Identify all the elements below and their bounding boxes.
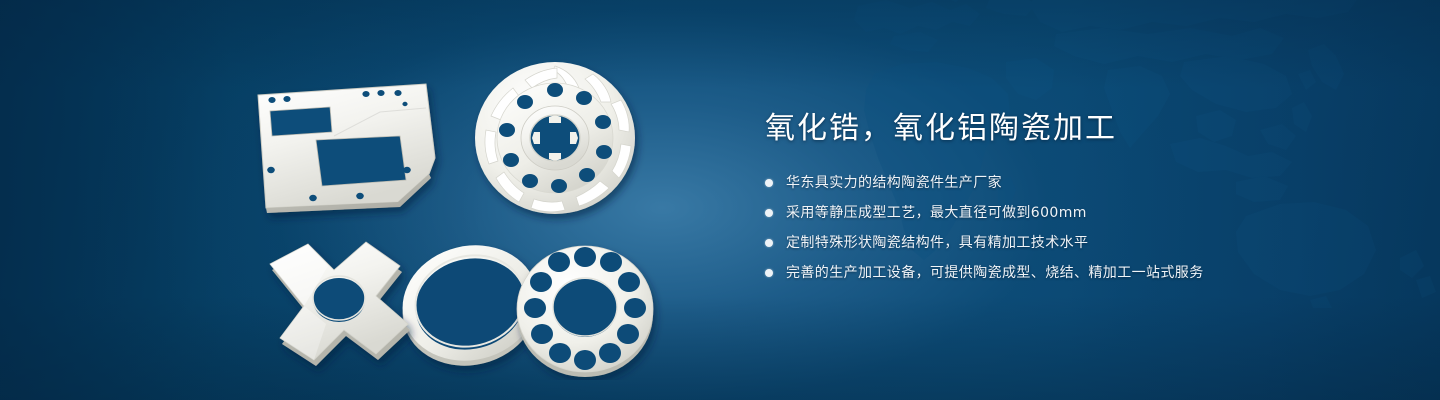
list-item: 定制特殊形状陶瓷结构件，具有精加工技术水平 [765,232,1385,254]
ceramic-valve-plate [517,246,653,377]
promo-banner: 氧化锆，氧化铝陶瓷加工 华东具实力的结构陶瓷件生产厂家 采用等静压成型工艺，最大… [0,0,1440,400]
feature-list: 华东具实力的结构陶瓷件生产厂家 采用等静压成型工艺，最大直径可做到600mm 定… [765,172,1385,284]
bullet-dot-icon [765,209,773,217]
list-item-label: 采用等静压成型工艺，最大直径可做到600mm [786,202,1087,224]
ceramic-cross-plate [270,242,410,366]
bullet-dot-icon [765,269,773,277]
list-item: 采用等静压成型工艺，最大直径可做到600mm [765,202,1385,224]
page-title: 氧化锆，氧化铝陶瓷加工 [765,108,1385,150]
list-item-label: 完善的生产加工设备，可提供陶瓷成型、烧结、精加工一站式服务 [786,262,1204,284]
ceramic-mounting-plate [258,84,435,213]
list-item: 完善的生产加工设备，可提供陶瓷成型、烧结、精加工一站式服务 [765,262,1385,284]
banner-copy: 氧化锆，氧化铝陶瓷加工 华东具实力的结构陶瓷件生产厂家 采用等静压成型工艺，最大… [765,108,1385,292]
list-item: 华东具实力的结构陶瓷件生产厂家 [765,172,1385,194]
bullet-dot-icon [765,239,773,247]
ceramic-products-image [230,40,730,380]
list-item-label: 定制特殊形状陶瓷结构件，具有精加工技术水平 [786,232,1088,254]
ceramic-impeller-disc [475,62,635,214]
bullet-dot-icon [765,179,773,187]
list-item-label: 华东具实力的结构陶瓷件生产厂家 [786,172,1002,194]
